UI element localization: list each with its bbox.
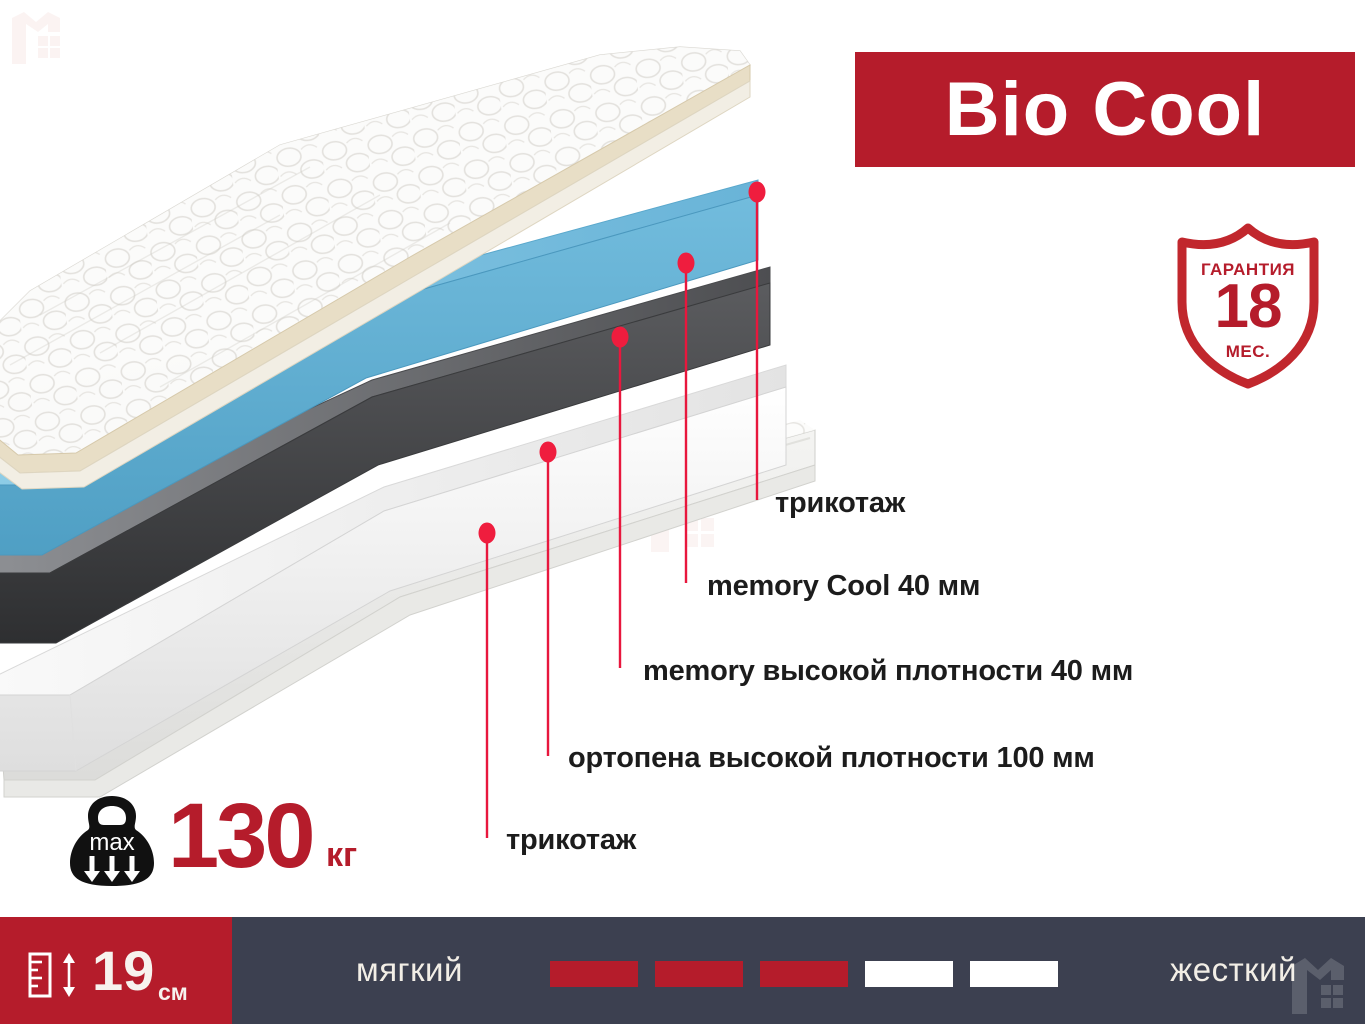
layer-label-knit-top: трикотаж (775, 487, 905, 520)
layer-label-knit-bottom: трикотаж (506, 824, 636, 857)
layer-label-memory-hd: memory высокой плотности 40 мм (643, 655, 1133, 688)
page-title: Bio Cool (945, 72, 1265, 148)
kettlebell-icon: max (66, 792, 158, 890)
firmness-segment-1 (550, 961, 638, 987)
firmness-segment-5 (970, 961, 1058, 987)
firmness-scale (550, 961, 1058, 987)
weight-capacity-value: 130 (168, 790, 313, 882)
warranty-label-bottom: МЕС. (1168, 342, 1328, 362)
mattress-cutaway-illustration (0, 35, 840, 825)
svg-text:max: max (89, 829, 134, 856)
firmness-scale-block: мягкий жесткий (232, 917, 1365, 1024)
height-spec-block: 19 см (0, 917, 232, 1024)
spec-bottom-bar: 19 см мягкий жесткий (0, 917, 1365, 1024)
weight-capacity-block: max 130 кг (58, 792, 388, 892)
weight-capacity-unit: кг (326, 836, 357, 875)
warranty-value: 18 (1168, 276, 1328, 338)
firmness-soft-label: мягкий (356, 951, 463, 989)
warranty-badge: ГАРАНТИЯ 18 МЕС. (1168, 218, 1328, 390)
layer-label-memory-cool: memory Cool 40 мм (707, 570, 980, 603)
height-value: 19 (92, 943, 154, 999)
product-title-plate: Bio Cool (855, 52, 1355, 167)
firmness-segment-4 (865, 961, 953, 987)
firmness-segment-3 (760, 961, 848, 987)
firmness-segment-2 (655, 961, 743, 987)
firmness-firm-label: жесткий (1170, 951, 1297, 989)
ruler-icon (26, 951, 92, 999)
height-unit: см (158, 979, 188, 1006)
layer-label-ortofoam-hd: ортопена высокой плотности 100 мм (568, 742, 1095, 775)
